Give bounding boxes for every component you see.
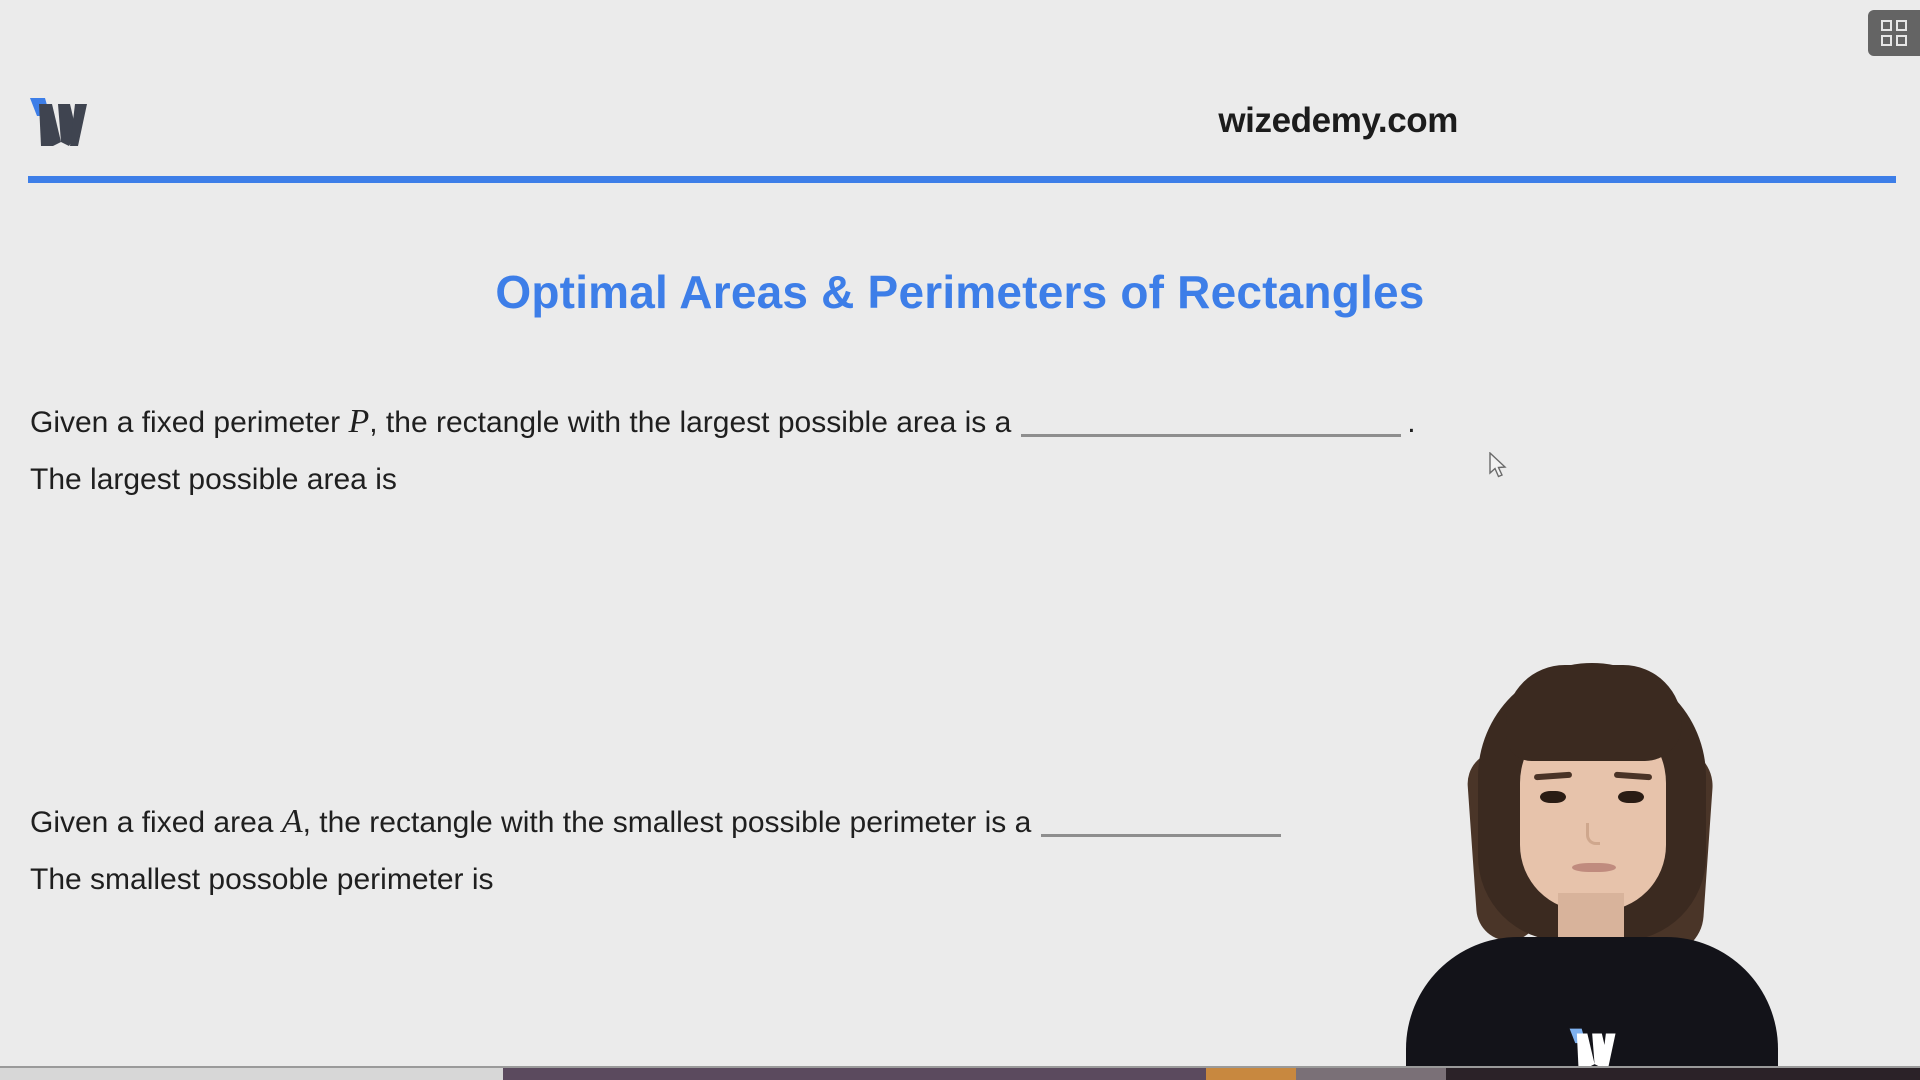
wizedemy-logo-icon: [28, 96, 100, 148]
perimeter-line1-text-b: , the rectangle with the largest possibl…: [369, 406, 1011, 439]
area-line1-text-a: Given a fixed area: [30, 806, 282, 839]
slide-title: Optimal Areas & Perimeters of Rectangles: [0, 265, 1920, 319]
grid-cell: [1896, 20, 1907, 31]
area-variable-A: A: [282, 803, 303, 840]
perimeter-line-1: Given a fixed perimeter P, the rectangle…: [30, 393, 1416, 451]
header-divider: [28, 176, 1896, 183]
area-line-1: Given a fixed area A, the rectangle with…: [30, 793, 1287, 851]
area-statement-block: Given a fixed area A, the rectangle with…: [30, 793, 1287, 909]
perimeter-statement-block: Given a fixed perimeter P, the rectangle…: [30, 393, 1416, 509]
area-answer-blank[interactable]: [1041, 811, 1281, 837]
mouse-pointer-icon: [1489, 452, 1509, 480]
grid-view-icon: [1881, 20, 1907, 46]
progress-segment[interactable]: [1206, 1068, 1296, 1080]
progress-segment[interactable]: [1296, 1068, 1446, 1080]
perimeter-line-2: The largest possible area is: [30, 451, 1416, 509]
slide-canvas: wizedemy.com Optimal Areas & Perimeters …: [0, 0, 1920, 1068]
grid-cell: [1881, 20, 1892, 31]
progress-segment[interactable]: [0, 1068, 503, 1080]
area-line2-text: The smallest possoble perimeter is: [30, 863, 494, 896]
perimeter-line1-text-a: Given a fixed perimeter: [30, 406, 348, 439]
grid-cell: [1896, 35, 1907, 46]
progress-segment[interactable]: [1446, 1068, 1920, 1080]
slide-header: wizedemy.com: [0, 0, 1920, 190]
brand-url-text: wizedemy.com: [1218, 101, 1458, 141]
nose: [1586, 823, 1600, 845]
mouth: [1572, 863, 1616, 872]
eye-right: [1618, 791, 1644, 803]
progress-segment[interactable]: [503, 1068, 1206, 1080]
perimeter-variable-P: P: [348, 403, 369, 440]
video-progress-bar[interactable]: [0, 1068, 1920, 1080]
hair-fringe: [1506, 665, 1682, 761]
eye-left: [1540, 791, 1566, 803]
area-line-2: The smallest possoble perimeter is: [30, 851, 1287, 909]
shirt-wizedemy-logo-icon: [1568, 1027, 1626, 1068]
instructor-video-overlay: [1382, 655, 1802, 1068]
grid-view-button[interactable]: [1868, 10, 1920, 56]
perimeter-line2-text: The largest possible area is: [30, 463, 397, 496]
presentation-screen: wizedemy.com Optimal Areas & Perimeters …: [0, 0, 1920, 1080]
instructor-figure: [1382, 655, 1802, 1068]
perimeter-answer-blank[interactable]: [1021, 411, 1401, 437]
perimeter-line1-period: .: [1407, 406, 1415, 439]
area-line1-text-b: , the rectangle with the smallest possib…: [303, 806, 1032, 839]
grid-cell: [1881, 35, 1892, 46]
